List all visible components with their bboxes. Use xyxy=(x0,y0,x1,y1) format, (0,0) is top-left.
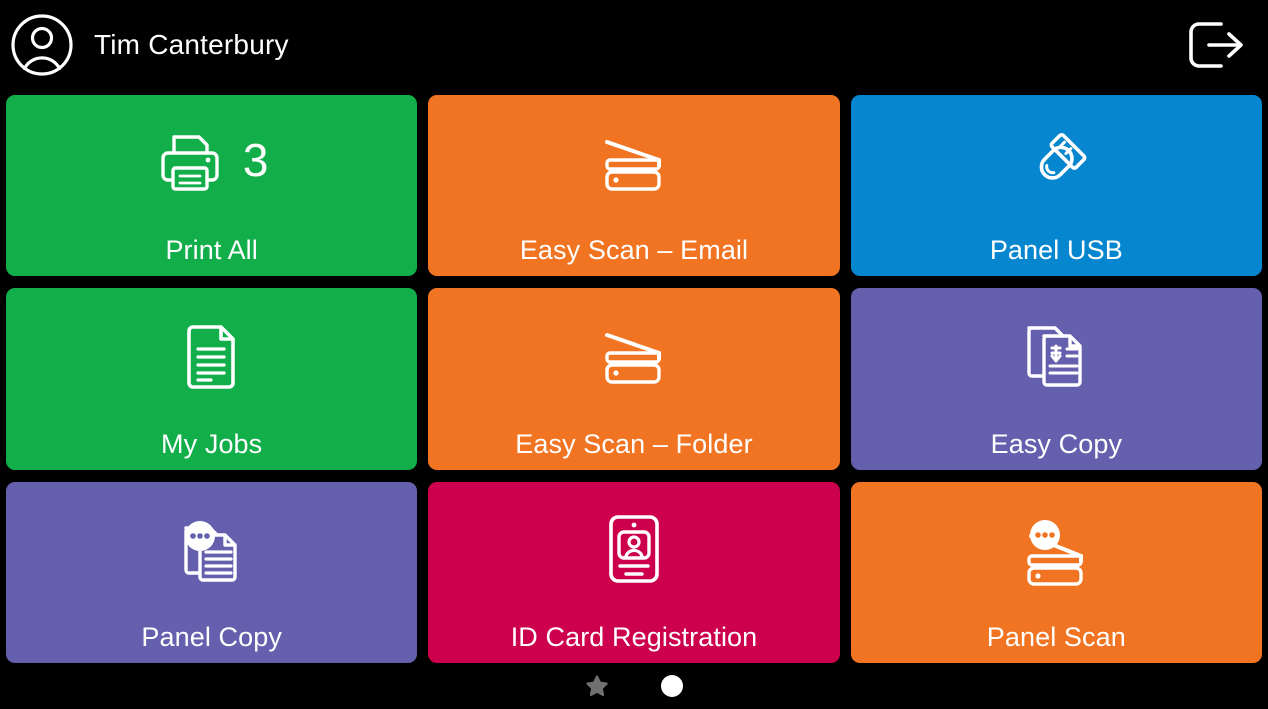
panel-copy-icon xyxy=(174,512,250,586)
copy-docs-icon xyxy=(1019,318,1093,392)
tile-panel-usb[interactable]: Panel USB xyxy=(851,95,1262,276)
tile-icon-area xyxy=(851,296,1262,414)
tile-label: ID Card Registration xyxy=(428,622,839,653)
favorites-page-indicator[interactable] xyxy=(585,674,609,698)
user-name-label: Tim Canterbury xyxy=(94,29,289,61)
tile-icon-area xyxy=(6,490,417,608)
tile-easy-copy[interactable]: Easy Copy xyxy=(851,288,1262,469)
tile-panel-scan[interactable]: Panel Scan xyxy=(851,482,1262,663)
scanner-icon xyxy=(596,320,672,390)
tile-easy-scan-folder[interactable]: Easy Scan – Folder xyxy=(428,288,839,469)
tile-id-card-registration[interactable]: ID Card Registration xyxy=(428,482,839,663)
tile-label: Easy Scan – Email xyxy=(428,235,839,266)
usb-drive-icon xyxy=(1020,126,1092,198)
tile-icon-area xyxy=(428,103,839,221)
panel-scan-icon xyxy=(1017,512,1095,586)
user-avatar-icon xyxy=(10,13,74,77)
tile-icon-area xyxy=(6,296,417,414)
print-job-count-badge: 3 xyxy=(243,137,269,183)
logout-button[interactable] xyxy=(1180,15,1250,75)
tile-icon-area xyxy=(851,490,1262,608)
tile-label: Print All xyxy=(6,235,417,266)
tile-icon-area xyxy=(428,490,839,608)
document-icon xyxy=(180,319,244,391)
printer-icon xyxy=(155,127,225,197)
tile-print-all[interactable]: 3 Print All xyxy=(6,95,417,276)
id-card-icon xyxy=(605,512,663,586)
tile-icon-area xyxy=(851,103,1262,221)
home-page-indicator[interactable] xyxy=(661,675,683,697)
tile-label: Panel Copy xyxy=(6,622,417,653)
tile-label: My Jobs xyxy=(6,429,417,460)
logout-icon xyxy=(1183,18,1247,72)
scanner-icon xyxy=(596,127,672,197)
tile-label: Panel Scan xyxy=(851,622,1262,653)
tile-easy-scan-email[interactable]: Easy Scan – Email xyxy=(428,95,839,276)
tile-panel-copy[interactable]: Panel Copy xyxy=(6,482,417,663)
tile-grid: 3 Print All Easy Scan – Email xyxy=(6,95,1262,663)
tile-icon-area xyxy=(428,296,839,414)
avatar xyxy=(10,13,74,77)
tile-label: Easy Scan – Folder xyxy=(428,429,839,460)
tile-icon-area: 3 xyxy=(6,103,417,221)
page-indicator-bar xyxy=(0,663,1268,709)
tile-label: Panel USB xyxy=(851,235,1262,266)
device-panel-home-screen: Tim Canterbury 3 xyxy=(0,0,1268,709)
panel-header: Tim Canterbury xyxy=(0,0,1268,90)
tile-my-jobs[interactable]: My Jobs xyxy=(6,288,417,469)
tile-label: Easy Copy xyxy=(851,429,1262,460)
